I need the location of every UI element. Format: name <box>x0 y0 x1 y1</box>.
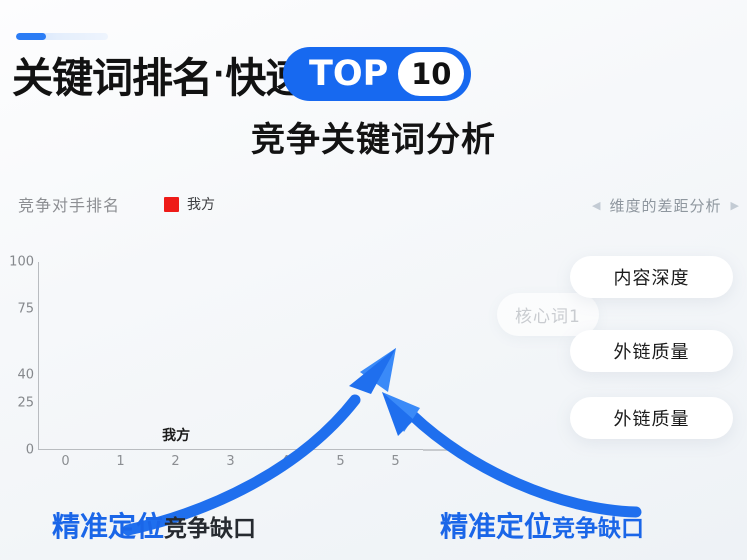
chevron-right-icon[interactable]: ▶ <box>731 200 739 211</box>
bar-annotation-mine: 我方 <box>149 425 204 445</box>
page-title: 关键词排名 · 快速 <box>12 44 305 104</box>
dimension-card-1[interactable]: 外链质量 <box>570 330 733 372</box>
legend-mine-label: 我方 <box>187 194 215 214</box>
dimension-card-0[interactable]: 内容深度 <box>570 256 733 298</box>
x-tick-0: 0 <box>38 454 93 474</box>
x-tick-3: 3 <box>203 454 258 474</box>
dimension-gap-label: 维度的差距分析 <box>610 195 722 216</box>
page-title-main: 关键词排名 <box>12 44 212 104</box>
chart-plot-area: 我方 <box>38 262 423 450</box>
top-rank-badge[interactable]: TOP 10 <box>283 47 471 101</box>
caption-right-rest: 竞争缺口 <box>552 509 644 543</box>
legend-item-mine[interactable]: 我方 <box>164 194 215 214</box>
y-tick-100: 100 <box>0 255 34 270</box>
page-header: 关键词排名 · 快速 TOP 10 <box>0 44 747 104</box>
chart-bars: 我方 <box>39 262 423 449</box>
x-tick-5: 5 <box>313 454 368 474</box>
x-tick-6: 5 <box>368 454 423 474</box>
caption-right-highlight: 精准定位 <box>440 505 552 545</box>
legend-swatch-icon <box>164 197 179 212</box>
x-tick-4: 4 <box>258 454 313 474</box>
page-title-separator: · <box>213 57 223 92</box>
top-badge-word: TOP <box>309 54 388 94</box>
y-tick-40: 40 <box>0 367 34 382</box>
y-tick-25: 25 <box>0 396 34 411</box>
top-badge-number: 10 <box>398 52 464 96</box>
page-subtitle: 竞争关键词分析 <box>0 112 747 161</box>
progress-fill <box>16 33 46 40</box>
x-axis-arrow-icon <box>423 447 457 453</box>
caption-left-highlight: 精准定位 <box>52 505 164 545</box>
y-tick-75: 75 <box>0 302 34 317</box>
core-word-pill[interactable]: 核心词1 <box>497 293 599 336</box>
competitor-bar-chart: 1007540250 我方 0123455 <box>0 250 460 480</box>
chart-legend: 竞争对手排名 我方 <box>18 192 215 216</box>
dimension-card-2[interactable]: 外链质量 <box>570 397 733 439</box>
y-tick-0: 0 <box>0 443 34 458</box>
dimension-gap-heading: ◀ 维度的差距分析 ▶ <box>592 195 739 216</box>
caption-left: 精准定位 竞争缺口 <box>52 505 256 545</box>
caption-right: 精准定位 竞争缺口 <box>440 505 644 545</box>
legend-title: 竞争对手排名 <box>18 192 120 216</box>
x-tick-2: 2 <box>148 454 203 474</box>
chart-y-axis: 1007540250 <box>0 262 34 450</box>
progress-decoration <box>16 33 108 40</box>
caption-left-rest: 竞争缺口 <box>164 509 256 543</box>
chart-x-axis: 0123455 <box>38 454 423 474</box>
x-tick-1: 1 <box>93 454 148 474</box>
chevron-left-icon[interactable]: ◀ <box>592 200 600 211</box>
